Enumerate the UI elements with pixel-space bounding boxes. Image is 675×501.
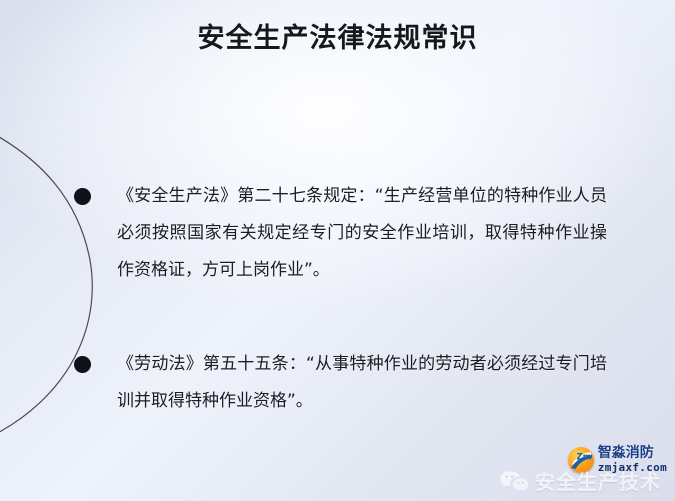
wechat-watermark: 安全生产技术 <box>499 466 661 495</box>
svg-text:Zm: Zm <box>576 452 591 462</box>
bullet-dot-icon <box>74 356 91 373</box>
bullet-dot-icon <box>74 188 91 205</box>
wechat-icon <box>499 469 529 493</box>
brand-name: 智淼消防 <box>598 446 667 460</box>
watermark-text: 安全生产技术 <box>535 466 661 495</box>
bullet-text: 《安全生产法》第二十七条规定：“生产经营单位的特种作业人员必须按照国家有关规定经… <box>117 178 607 289</box>
slide-canvas: 安全生产法律法规常识 《安全生产法》第二十七条规定：“生产经营单位的特种作业人员… <box>0 0 675 501</box>
page-title: 安全生产法律法规常识 <box>0 16 675 55</box>
bullet-text: 《劳动法》第五十五条：“从事特种作业的劳动者必须经过专门培训并取得特种作业资格”… <box>117 346 607 420</box>
